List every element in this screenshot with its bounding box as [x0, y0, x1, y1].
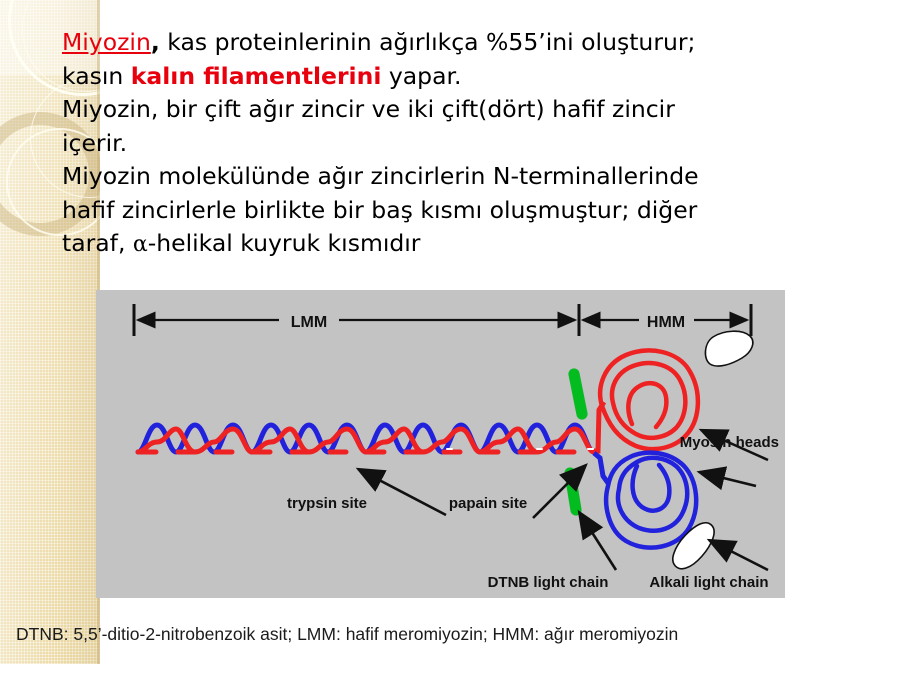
body-line-7-suffix: -helikal kuyruk kısmıdır	[148, 229, 421, 257]
label-hmm: HMM	[647, 314, 685, 331]
body-line-1-comma: ,	[151, 28, 160, 56]
label-lmm: LMM	[291, 314, 327, 331]
keyword-kalin-filamentlerini: kalın filamentlerini	[131, 62, 382, 90]
body-line-7-prefix: taraf,	[62, 229, 133, 257]
label-alkali-light-chain: Alkali light chain	[649, 574, 768, 591]
footer-caption: DTNB: 5,5’-ditio-2-nitrobenzoik asit; LM…	[16, 624, 678, 645]
body-line-2: kasın kalın filamentlerini yapar.	[62, 60, 887, 94]
dtnb-light-chain-upper-outline	[574, 374, 582, 414]
label-dtnb-light-chain: DTNB light chain	[488, 574, 609, 591]
body-line-3: Miyozin, bir çift ağır zincir ve iki çif…	[62, 93, 887, 127]
body-line-2-suffix: yapar.	[381, 62, 461, 90]
label-papain-site: papain site	[449, 495, 527, 512]
alpha-symbol: α	[133, 232, 148, 257]
keyword-miyozin: Miyozin	[62, 28, 151, 56]
body-line-1-rest: kas proteinlerinin ağırlıkça %55’ini olu…	[160, 28, 696, 56]
body-line-4: içerir.	[62, 127, 887, 161]
body-line-1: Miyozin, kas proteinlerinin ağırlıkça %5…	[62, 26, 887, 60]
label-myosin-heads: Myosin heads	[680, 434, 779, 451]
body-line-5: Miyozin molekülünde ağır zincirlerin N-t…	[62, 160, 887, 194]
body-line-6: hafif zincirlerle birlikte bir baş kısmı…	[62, 194, 887, 228]
slide-body-text: Miyozin, kas proteinlerinin ağırlıkça %5…	[62, 26, 887, 262]
myosin-diagram-figure: LMM HMM	[96, 290, 785, 598]
slide-canvas: Miyozin, kas proteinlerinin ağırlıkça %5…	[0, 0, 900, 675]
body-line-2-prefix: kasın	[62, 62, 131, 90]
body-line-7: taraf, α-helikal kuyruk kısmıdır	[62, 227, 887, 262]
label-trypsin-site: trypsin site	[287, 495, 367, 512]
